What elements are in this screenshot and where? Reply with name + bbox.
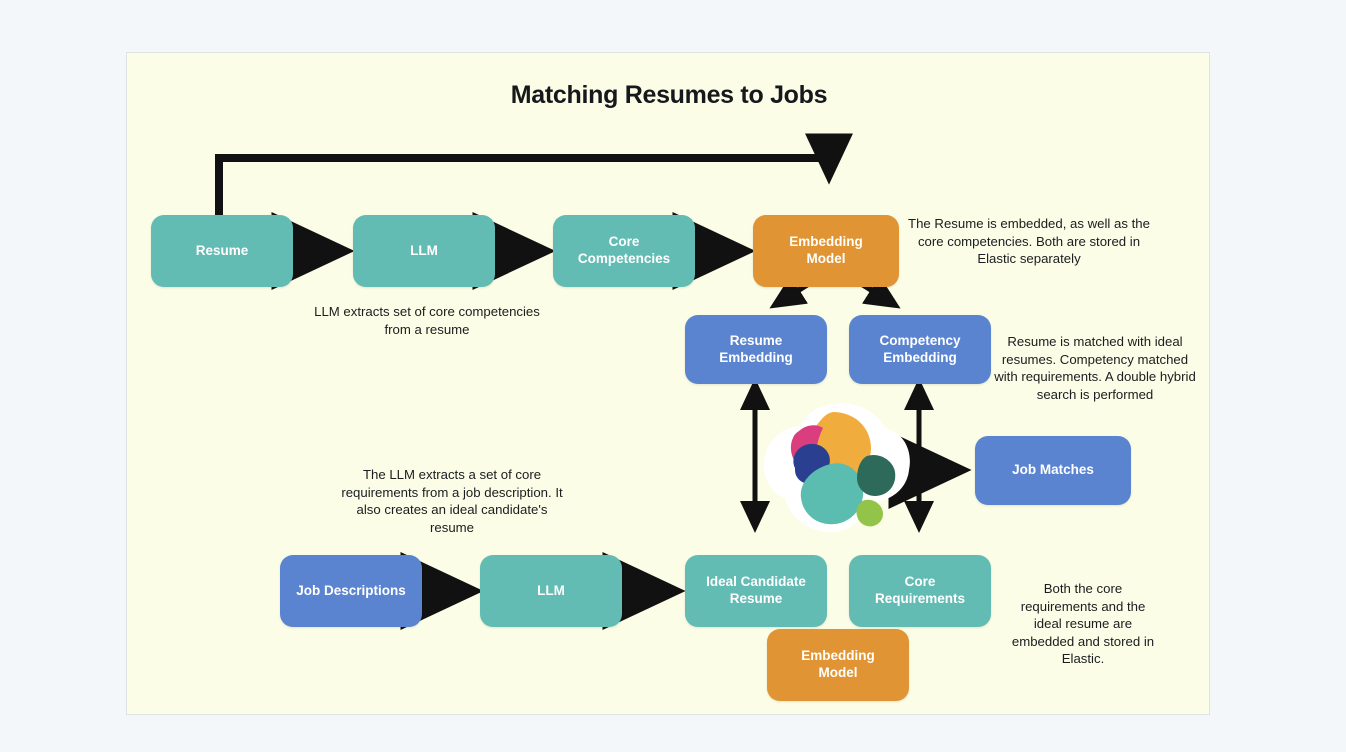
node-embedding-model-top-label-line2: Model [807, 251, 846, 266]
annotation-both-embedded: Both the core requirements and the ideal… [1007, 580, 1159, 668]
node-core-requirements-label-line1: Core [905, 574, 936, 589]
node-embedding-model-bottom-label-line1: Embedding [801, 648, 875, 663]
node-core-requirements[interactable]: Core Requirements [849, 555, 991, 627]
node-competency-embedding[interactable]: Competency Embedding [849, 315, 991, 384]
node-job-matches[interactable]: Job Matches [975, 436, 1131, 505]
node-job-descriptions[interactable]: Job Descriptions [280, 555, 422, 627]
node-ideal-candidate-resume-label-line2: Resume [730, 591, 783, 606]
arrow-feedback-resume-to-embedding [219, 158, 829, 259]
node-embedding-model-top[interactable]: Embedding Model [753, 215, 899, 287]
annotation-llm-extract-competencies: LLM extracts set of core competencies fr… [307, 303, 547, 338]
node-resume-label: Resume [196, 243, 249, 260]
node-embedding-model-top-label-line1: Embedding [789, 234, 863, 249]
node-llm-bottom-label: LLM [537, 583, 565, 600]
node-llm-top-label: LLM [410, 243, 438, 260]
node-ideal-candidate-resume[interactable]: Ideal Candidate Resume [685, 555, 827, 627]
node-resume-embedding[interactable]: Resume Embedding [685, 315, 827, 384]
node-core-competencies-label-line2: Competencies [578, 251, 670, 266]
diagram-card: Matching Resumes to Jobs [126, 52, 1210, 715]
elastic-logo [761, 398, 913, 538]
annotation-resume-embedded: The Resume is embedded, as well as the c… [903, 215, 1155, 268]
node-core-requirements-label-line2: Requirements [875, 591, 965, 606]
node-job-descriptions-label: Job Descriptions [296, 583, 406, 600]
node-resume-embedding-label-line1: Resume [730, 333, 783, 348]
node-llm-bottom[interactable]: LLM [480, 555, 622, 627]
page-title: Matching Resumes to Jobs [127, 81, 1211, 110]
node-competency-embedding-label-line1: Competency [879, 333, 960, 348]
node-llm-top[interactable]: LLM [353, 215, 495, 287]
diagram-canvas: Matching Resumes to Jobs [127, 53, 1211, 716]
node-resume[interactable]: Resume [151, 215, 293, 287]
node-competency-embedding-label-line2: Embedding [883, 350, 957, 365]
annotation-llm-extract-requirements: The LLM extracts a set of core requireme… [341, 466, 563, 536]
node-core-competencies[interactable]: Core Competencies [553, 215, 695, 287]
page-root: Matching Resumes to Jobs [0, 0, 1346, 752]
node-embedding-model-bottom[interactable]: Embedding Model [767, 629, 909, 701]
node-resume-embedding-label-line2: Embedding [719, 350, 793, 365]
annotation-resume-matched: Resume is matched with ideal resumes. Co… [989, 333, 1201, 403]
node-core-competencies-label-line1: Core [609, 234, 640, 249]
node-ideal-candidate-resume-label-line1: Ideal Candidate [706, 574, 806, 589]
node-job-matches-label: Job Matches [1012, 462, 1094, 479]
node-embedding-model-bottom-label-line2: Model [819, 665, 858, 680]
